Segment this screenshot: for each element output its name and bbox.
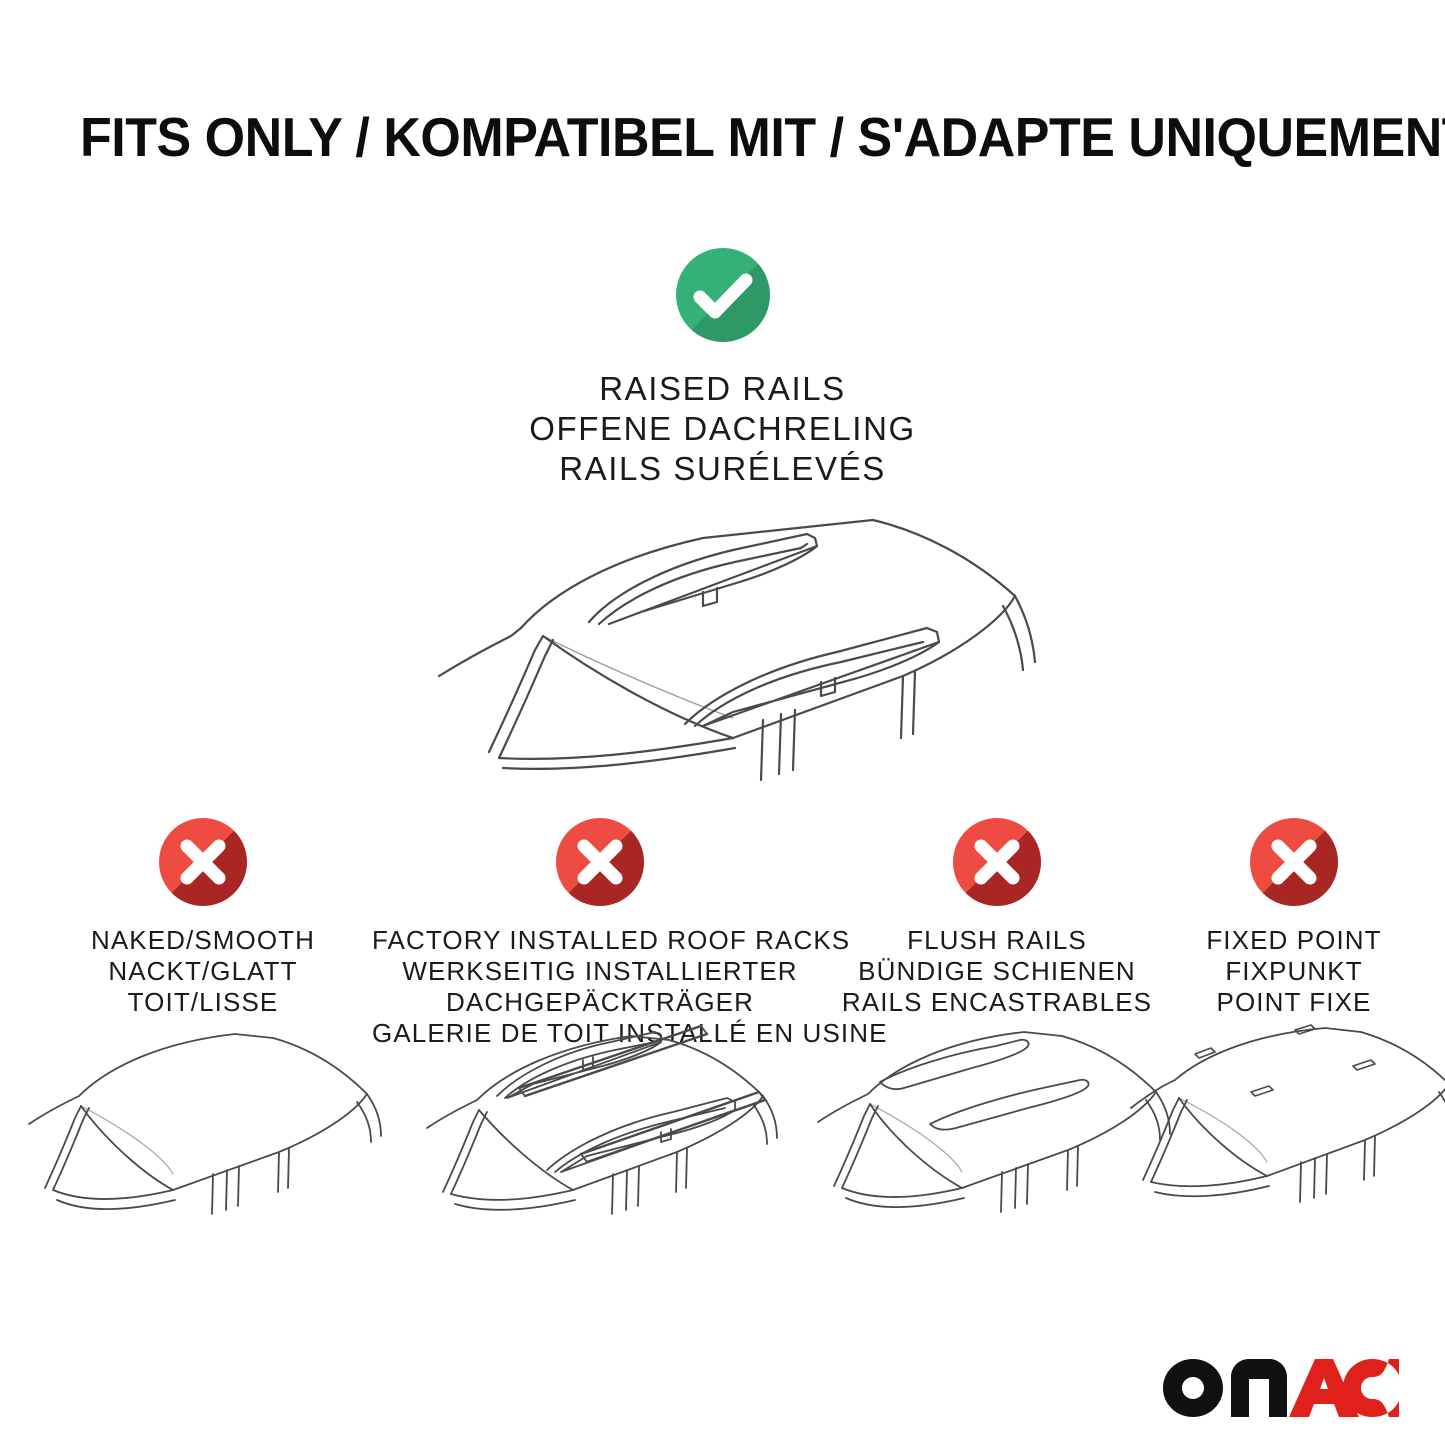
incompatible-item-naked-smooth: NAKED/SMOOTH NACKT/GLATT TOIT/LISSE xyxy=(38,818,368,1018)
logo-letter-o xyxy=(1163,1359,1223,1417)
incompatible-label: FIXED POINT FIXPUNKT POINT FIXE xyxy=(1160,925,1428,1018)
label-line-1: FACTORY INSTALLED ROOF RACKS xyxy=(372,925,828,956)
label-line-2: WERKSEITIG INSTALLIERTER xyxy=(372,956,828,987)
car-roof-fixed-point-illustration xyxy=(1129,1014,1445,1239)
incompatible-item-factory-installed-roof-racks: FACTORY INSTALLED ROOF RACKS WERKSEITIG … xyxy=(372,818,828,1049)
logo-letter-c xyxy=(1343,1359,1399,1417)
incompatible-item-fixed-point: FIXED POINT FIXPUNKT POINT FIXE xyxy=(1160,818,1428,1018)
x-circle-icon xyxy=(953,818,1041,906)
compatible-label-line-3: RAILS SURÉLEVÉS xyxy=(0,449,1445,489)
compatible-label: RAISED RAILS OFFENE DACHRELING RAILS SUR… xyxy=(0,369,1445,489)
car-roof-raised-rails-illustration xyxy=(403,500,1043,800)
check-circle-icon xyxy=(676,248,770,342)
logo-letter-m xyxy=(1231,1359,1287,1417)
label-line-2: NACKT/GLATT xyxy=(38,956,368,987)
x-circle-icon xyxy=(1250,818,1338,906)
x-circle-icon xyxy=(556,818,644,906)
car-roof-naked-smooth-illustration xyxy=(23,1014,383,1239)
label-line-1: FLUSH RAILS xyxy=(838,925,1156,956)
car-roof-factory-racks-illustration xyxy=(415,1004,785,1239)
compatible-section: RAISED RAILS OFFENE DACHRELING RAILS SUR… xyxy=(0,248,1445,489)
incompatible-label: FLUSH RAILS BÜNDIGE SCHIENEN RAILS ENCAS… xyxy=(838,925,1156,1018)
compatible-label-line-1: RAISED RAILS xyxy=(0,369,1445,409)
incompatible-section: NAKED/SMOOTH NACKT/GLATT TOIT/LISSE xyxy=(0,818,1445,1248)
label-line-1: FIXED POINT xyxy=(1160,925,1428,956)
incompatible-label: NAKED/SMOOTH NACKT/GLATT TOIT/LISSE xyxy=(38,925,368,1018)
car-roof-flush-rails-illustration xyxy=(812,1014,1182,1239)
label-line-1: NAKED/SMOOTH xyxy=(38,925,368,956)
page-title: FITS ONLY / KOMPATIBEL MIT / S'ADAPTE UN… xyxy=(80,108,1309,166)
x-circle-icon xyxy=(159,818,247,906)
label-line-2: BÜNDIGE SCHIENEN xyxy=(838,956,1156,987)
incompatible-item-flush-rails: FLUSH RAILS BÜNDIGE SCHIENEN RAILS ENCAS… xyxy=(838,818,1156,1018)
omac-logo xyxy=(1161,1357,1401,1419)
compatible-label-line-2: OFFENE DACHRELING xyxy=(0,409,1445,449)
label-line-2: FIXPUNKT xyxy=(1160,956,1428,987)
